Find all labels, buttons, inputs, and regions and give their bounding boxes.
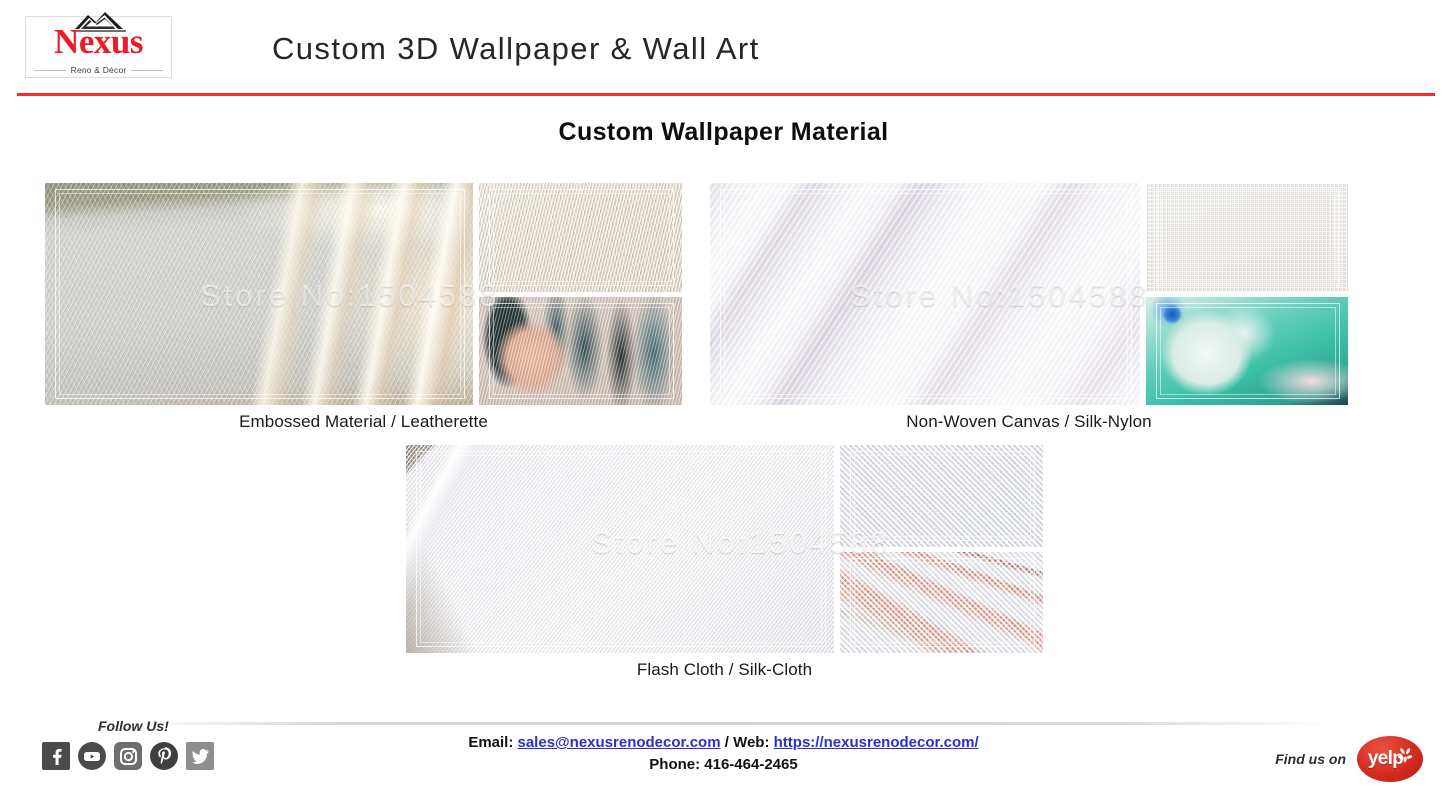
website-link[interactable]: https://nexusrenodecor.com/	[774, 734, 979, 751]
white-silk-drape-photo[interactable]	[710, 183, 1140, 405]
page-title: Custom 3D Wallpaper & Wall Art	[272, 31, 760, 67]
material-thumbnail-stack	[1146, 183, 1348, 405]
leatherette-printed-pattern-photo[interactable]	[479, 297, 682, 406]
material-panel-nonwoven: Store No:1504588 Non-Woven Canvas / Silk…	[710, 183, 1348, 432]
logo-wordmark: Nexus	[26, 23, 171, 61]
email-label: Email:	[468, 734, 513, 751]
embossed-texture-closeup-photo[interactable]	[479, 183, 682, 292]
logo-rule-left	[34, 70, 66, 71]
contact-separator: /	[725, 734, 729, 751]
section-title: Custom Wallpaper Material	[0, 118, 1447, 147]
yelp-burst-icon	[1396, 746, 1414, 764]
contact-info: Email: sales@nexusrenodecor.com / Web: h…	[0, 732, 1447, 776]
logo-rule-right	[131, 70, 163, 71]
silk-cloth-weave-closeup-photo[interactable]	[840, 445, 1043, 547]
page-header: Nexus Reno & Décor Custom 3D Wallpaper &…	[0, 0, 1447, 96]
page-footer: Follow Us!	[0, 700, 1447, 800]
red-striped-silk-cloth-print-photo[interactable]	[840, 552, 1043, 654]
embossed-wallpaper-roll-photo[interactable]	[45, 183, 473, 405]
material-thumbnail-stack	[840, 445, 1043, 653]
email-link[interactable]: sales@nexusrenodecor.com	[518, 734, 721, 751]
non-woven-canvas-weave-photo[interactable]	[1146, 183, 1348, 292]
material-panel-embossed: Store No:1504588 Embossed Material / Lea…	[45, 183, 682, 432]
slide: Nexus Reno & Décor Custom 3D Wallpaper &…	[0, 0, 1447, 800]
flash-cloth-sheet-photo[interactable]	[406, 445, 834, 653]
material-caption: Embossed Material / Leatherette	[45, 412, 682, 432]
material-media-group: Store No:1504588	[406, 445, 1043, 653]
phone-line: Phone: 416-464-2465	[0, 754, 1447, 776]
logo-tagline: Reno & Décor	[71, 65, 127, 75]
yelp-badge-group[interactable]: Find us on yelp	[1275, 736, 1423, 782]
material-media-group: Store No:1504588	[710, 183, 1348, 405]
teal-floral-silk-nylon-photo[interactable]	[1146, 297, 1348, 406]
logo-tagline-row: Reno & Décor	[26, 65, 171, 75]
material-panel-flashcloth: Store No:1504588 Flash Cloth / Silk-Clot…	[406, 445, 1043, 680]
material-caption: Flash Cloth / Silk-Cloth	[406, 660, 1043, 680]
header-divider	[17, 93, 1435, 96]
material-thumbnail-stack	[479, 183, 682, 405]
material-media-group: Store No:1504588	[45, 183, 682, 405]
company-logo[interactable]: Nexus Reno & Décor	[25, 16, 172, 78]
yelp-icon[interactable]: yelp	[1357, 736, 1423, 782]
footer-divider	[120, 722, 1330, 725]
find-us-on-label: Find us on	[1275, 751, 1346, 767]
material-caption: Non-Woven Canvas / Silk-Nylon	[710, 412, 1348, 432]
web-label: Web:	[733, 734, 769, 751]
